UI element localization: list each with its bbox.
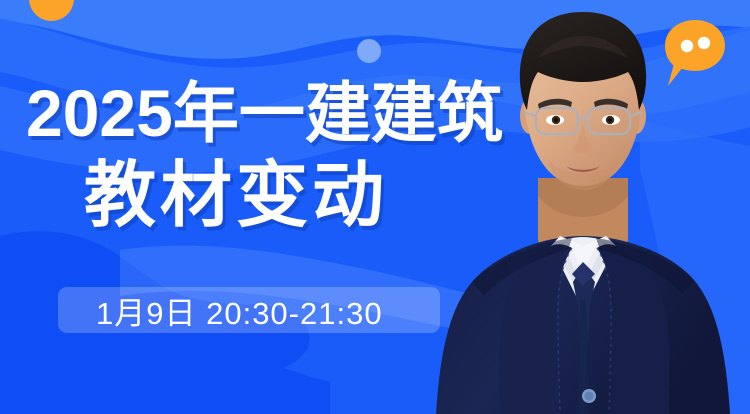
headline-block: 2025年一建建筑 教材变动	[0, 80, 520, 232]
pale-blue-dot-icon	[357, 39, 381, 63]
schedule-badge: 1月9日 20:30-21:30	[58, 287, 440, 333]
page-title-line-1: 2025年一建建筑	[26, 80, 520, 146]
live-class-promo-banner: 2025年一建建筑 教材变动 1月9日 20:30-21:30	[0, 0, 750, 414]
page-title-line-2: 教材变动	[84, 160, 520, 232]
orange-circle-icon	[29, 0, 74, 21]
schedule-date-time: 1月9日 20:30-21:30	[96, 288, 383, 333]
